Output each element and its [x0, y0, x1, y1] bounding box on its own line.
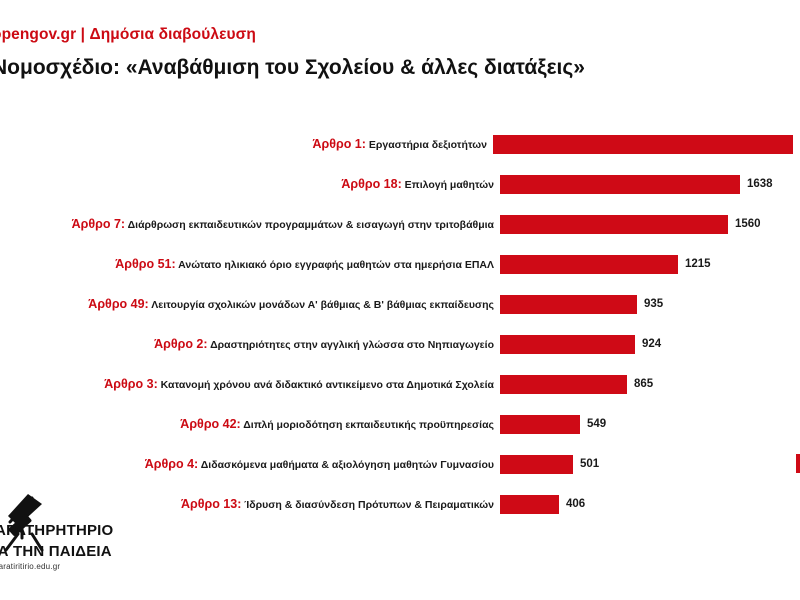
- bar-track: 865: [500, 364, 800, 404]
- bar-value: 1215: [685, 258, 711, 270]
- bar: [500, 215, 728, 234]
- bar-chart: Άρθρο 1: Εργαστήρια δεξιοτήτωνΆρθρο 18: …: [0, 124, 800, 544]
- bar-label-article: Άρθρο 2:: [154, 337, 207, 351]
- header-divider: [0, 112, 800, 113]
- bar-label-article: Άρθρο 4:: [145, 457, 198, 471]
- bar-label-description: Ίδρυση & διασύνδεση Πρότυπων & Πειραματι…: [241, 499, 494, 511]
- bar: [500, 375, 627, 394]
- chart-bar-row: Άρθρο 4: Διδασκόμενα μαθήματα & αξιολόγη…: [0, 444, 800, 484]
- bar-value: 1638: [747, 178, 773, 190]
- chart-bar-row: Άρθρο 51: Ανώτατο ηλικιακό όριο εγγραφής…: [0, 244, 800, 284]
- bar-label-article: Άρθρο 7:: [72, 217, 125, 231]
- bar-label: Άρθρο 51: Ανώτατο ηλικιακό όριο εγγραφής…: [0, 256, 500, 272]
- bar-track: 924: [500, 324, 800, 364]
- bar-label-description: Ανώτατο ηλικιακό όριο εγγραφής μαθητών σ…: [176, 259, 494, 271]
- bar-value: 935: [644, 298, 663, 310]
- bar-label-description: Διδασκόμενα μαθήματα & αξιολόγηση μαθητώ…: [198, 459, 494, 471]
- chart-bar-row: Άρθρο 42: Διπλή μοριοδότηση εκπαιδευτική…: [0, 404, 800, 444]
- bar-label: Άρθρο 42: Διπλή μοριοδότηση εκπαιδευτική…: [0, 416, 500, 432]
- bar-value: 406: [566, 498, 585, 510]
- bar-value: 549: [587, 418, 606, 430]
- bar-label: Άρθρο 49: Λειτουργία σχολικών μονάδων Α'…: [0, 296, 500, 312]
- chart-bar-row: Άρθρο 3: Κατανομή χρόνου ανά διδακτικό α…: [0, 364, 800, 404]
- chart-bar-row: Άρθρο 7: Διάρθρωση εκπαιδευτικών προγραμ…: [0, 204, 800, 244]
- bar: [500, 175, 740, 194]
- bar-label-article: Άρθρο 42:: [180, 417, 240, 431]
- telescope-icon: [0, 492, 158, 592]
- bar-label-article: Άρθρο 1:: [312, 137, 365, 151]
- bar-label-description: Κατανομή χρόνου ανά διδακτικό αντικείμεν…: [158, 379, 494, 391]
- bar-track: 1215: [500, 244, 800, 284]
- bar-label-article: Άρθρο 18:: [341, 177, 401, 191]
- source-kicker: opengov.gr | Δημόσια διαβούλευση: [0, 26, 800, 44]
- bar-label: Άρθρο 1: Εργαστήρια δεξιοτήτων: [0, 136, 493, 152]
- bar-track: 1638: [500, 164, 800, 204]
- page-title: Νομοσχέδιο: «Αναβάθμιση του Σχολείου & ά…: [0, 56, 800, 80]
- logo-line-1: ΠΑΡΑΤΗΡΗΤΗΡΙΟ: [0, 522, 113, 539]
- bar-track: 501: [500, 444, 800, 484]
- bar-label-description: Διπλή μοριοδότηση εκπαιδευτικής προϋπηρε…: [241, 419, 494, 431]
- header: opengov.gr | Δημόσια διαβούλευση Νομοσχέ…: [0, 26, 800, 80]
- bar-label-description: Δραστηριότητες στην αγγλική γλώσσα στο Ν…: [208, 339, 494, 351]
- bar-track: 1560: [500, 204, 800, 244]
- chart-bar-row: Άρθρο 49: Λειτουργία σχολικών μονάδων Α'…: [0, 284, 800, 324]
- bar-label: Άρθρο 2: Δραστηριότητες στην αγγλική γλώ…: [0, 336, 500, 352]
- bar-label-article: Άρθρο 49:: [88, 297, 148, 311]
- bar: [500, 295, 637, 314]
- clipped-bar-edge: [796, 454, 800, 473]
- bar-label: Άρθρο 7: Διάρθρωση εκπαιδευτικών προγραμ…: [0, 216, 500, 232]
- bar-label-description: Λειτουργία σχολικών μονάδων Α' βάθμιας &…: [149, 299, 494, 311]
- bar-track: 549: [500, 404, 800, 444]
- bar-value: 865: [634, 378, 653, 390]
- bar-track: 406: [500, 484, 800, 524]
- bar-track: [493, 124, 800, 164]
- bar-value: 924: [642, 338, 661, 350]
- bar-label-description: Διάρθρωση εκπαιδευτικών προγραμμάτων & ε…: [125, 219, 494, 231]
- bar-value: 1560: [735, 218, 761, 230]
- logo-line-2: ΓΙΑ ΤΗΝ ΠΑΙΔΕΙΑ: [0, 543, 112, 560]
- bar-track: 935: [500, 284, 800, 324]
- bar-label-article: Άρθρο 51:: [115, 257, 175, 271]
- bar-label: Άρθρο 3: Κατανομή χρόνου ανά διδακτικό α…: [0, 376, 500, 392]
- bar: [493, 135, 793, 154]
- bar-label-article: Άρθρο 3:: [104, 377, 157, 391]
- bar-label: Άρθρο 4: Διδασκόμενα μαθήματα & αξιολόγη…: [0, 456, 500, 472]
- chart-bar-row: Άρθρο 2: Δραστηριότητες στην αγγλική γλώ…: [0, 324, 800, 364]
- bar-label-article: Άρθρο 13:: [181, 497, 241, 511]
- bar: [500, 415, 580, 434]
- bar-label-description: Επιλογή μαθητών: [402, 179, 494, 191]
- bar-value: 501: [580, 458, 599, 470]
- bar: [500, 335, 635, 354]
- chart-bar-row: Άρθρο 1: Εργαστήρια δεξιοτήτων: [0, 124, 800, 164]
- bar: [500, 455, 573, 474]
- bar: [500, 495, 559, 514]
- chart-bar-row: Άρθρο 18: Επιλογή μαθητών1638: [0, 164, 800, 204]
- bar-label: Άρθρο 18: Επιλογή μαθητών: [0, 176, 500, 192]
- logo-url: paratiritirio.edu.gr: [0, 562, 60, 571]
- top-margin: [0, 0, 800, 18]
- bar: [500, 255, 678, 274]
- bar-label-description: Εργαστήρια δεξιοτήτων: [366, 139, 487, 151]
